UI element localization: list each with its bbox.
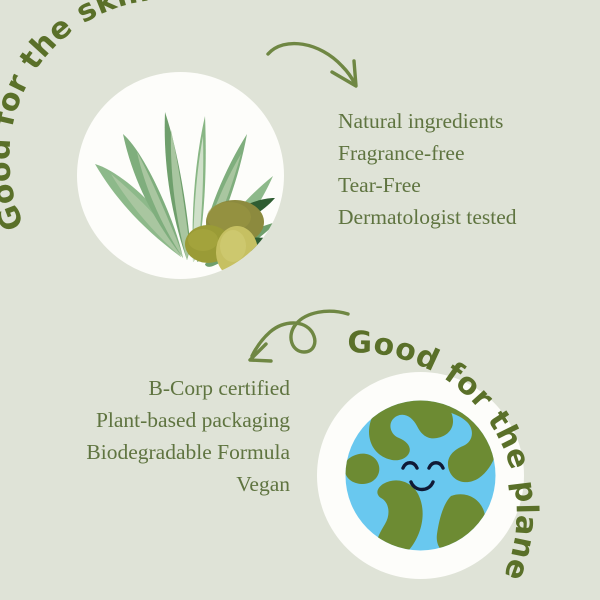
list-item: Dermatologist tested	[338, 201, 517, 233]
infographic-canvas: Good for the skin Natural ingredients Fr…	[0, 0, 600, 600]
list-item: Biodegradable Formula	[20, 436, 290, 468]
skin-benefit-list: Natural ingredients Fragrance-free Tear-…	[338, 105, 517, 233]
list-item: Tear-Free	[338, 169, 517, 201]
list-item: Plant-based packaging	[20, 404, 290, 436]
skin-headline-text: Good for the skin	[0, 0, 152, 235]
list-item: Vegan	[20, 468, 290, 500]
list-item: B-Corp certified	[20, 372, 290, 404]
planet-benefit-list: B-Corp certified Plant-based packaging B…	[20, 372, 290, 500]
list-item: Fragrance-free	[338, 137, 517, 169]
looping-arrow-down-left-icon	[240, 298, 355, 372]
list-item: Natural ingredients	[338, 105, 517, 137]
curved-arrow-down-right-icon	[262, 28, 392, 102]
